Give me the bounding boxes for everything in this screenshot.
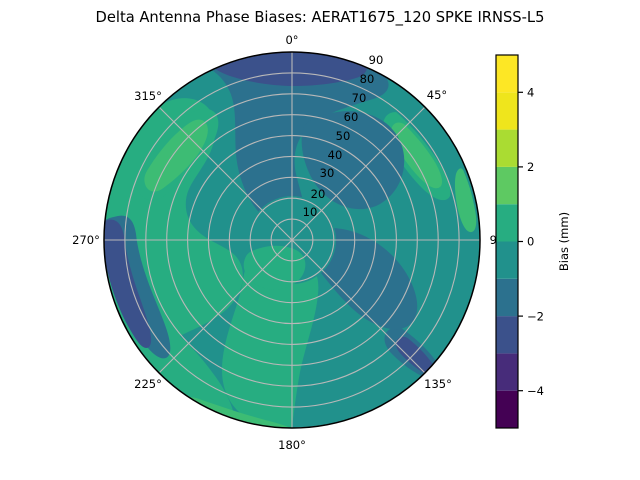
colorbar-band-2 bbox=[496, 316, 518, 353]
radial-tick-60: 60 bbox=[344, 110, 359, 124]
figure-canvas: Delta Antenna Phase Biases: AERAT1675_12… bbox=[0, 0, 640, 480]
colorbar-tick-label-0: 0 bbox=[527, 235, 534, 249]
colorbar-tick-label-neg4: −4 bbox=[527, 384, 544, 398]
radial-tick-20: 20 bbox=[311, 187, 326, 201]
angular-tick-225: 225° bbox=[134, 377, 162, 391]
colorbar-band-1 bbox=[496, 353, 518, 390]
polar-grid-spokes bbox=[104, 52, 480, 428]
angular-tick-45: 45° bbox=[427, 88, 447, 102]
angular-tick-135: 135° bbox=[424, 377, 452, 391]
colorbar-band-9 bbox=[496, 55, 518, 92]
angular-tick-315: 315° bbox=[134, 89, 162, 103]
radial-tick-40: 40 bbox=[328, 148, 343, 162]
angular-tick-0: 0° bbox=[285, 33, 298, 47]
radial-tick-10: 10 bbox=[303, 205, 318, 219]
radial-tick-80: 80 bbox=[360, 72, 375, 86]
colorbar-band-6 bbox=[496, 167, 518, 204]
colorbar-bands bbox=[496, 55, 518, 428]
colorbar-band-0 bbox=[496, 391, 518, 428]
chart-title: Delta Antenna Phase Biases: AERAT1675_12… bbox=[96, 9, 545, 26]
colorbar-tick-label-neg2: −2 bbox=[527, 309, 544, 323]
colorbar-tick-label-4: 4 bbox=[527, 86, 534, 100]
colorbar-band-3 bbox=[496, 279, 518, 316]
angular-tick-180: 180° bbox=[278, 438, 306, 452]
colorbar-axis-title: Bias (mm) bbox=[557, 212, 571, 271]
colorbar-band-7 bbox=[496, 130, 518, 167]
colorbar-band-8 bbox=[496, 92, 518, 129]
angular-tick-270: 270° bbox=[72, 233, 100, 247]
radial-tick-70: 70 bbox=[352, 91, 367, 105]
radial-tick-90: 90 bbox=[369, 53, 384, 67]
radial-tick-30: 30 bbox=[320, 166, 335, 180]
radial-tick-50: 50 bbox=[336, 129, 351, 143]
colorbar-band-5 bbox=[496, 204, 518, 241]
colorbar-tick-label-2: 2 bbox=[527, 160, 534, 174]
colorbar-band-4 bbox=[496, 242, 518, 279]
